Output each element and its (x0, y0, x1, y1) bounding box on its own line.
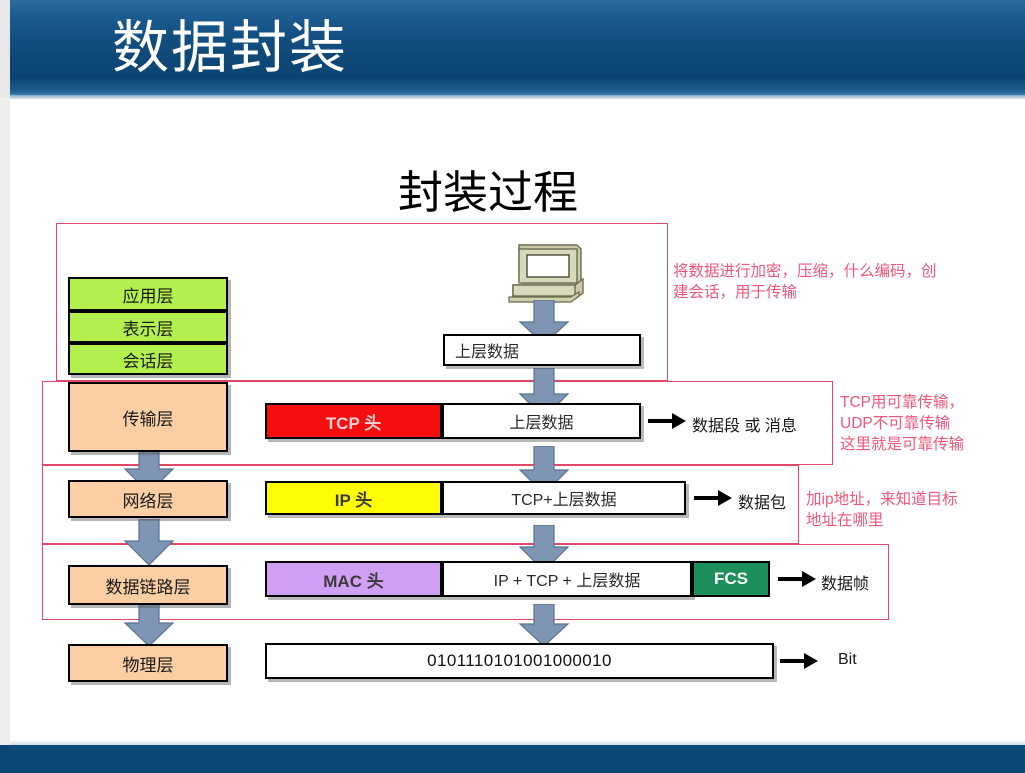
annotation-upper-layers: 将数据进行加密，压缩，什么编码，创 建会话，用于传输 (673, 261, 1018, 303)
pdu-label-bit-stream: 0101110101001000010 (427, 651, 612, 671)
layer-box-physical[interactable]: 物理层 (68, 644, 228, 682)
page-title: 数据封装 (112, 8, 348, 88)
pdu-label-transport-data: 上层数据 (509, 409, 573, 433)
output-arrow-segment (648, 412, 686, 435)
pdu-mac-header[interactable]: MAC 头 (265, 561, 442, 597)
layer-label-application: 应用层 (123, 282, 174, 307)
output-arrow-frame (778, 570, 816, 593)
layer-box-network[interactable]: 网络层 (68, 480, 228, 518)
layer-label-presentation: 表示层 (123, 315, 174, 340)
annotation-network: 加ip地址，来知道目标 地址在哪里 (806, 489, 1021, 531)
pdu-label-mac-header: MAC 头 (323, 567, 383, 592)
layer-label-transport: 传输层 (123, 405, 174, 430)
left-gutter (0, 97, 10, 745)
pdu-ip-header[interactable]: IP 头 (265, 481, 442, 515)
header-left-edge (0, 0, 10, 97)
layer-box-transport[interactable]: 传输层 (68, 382, 228, 452)
layer-box-datalink[interactable]: 数据链路层 (68, 565, 228, 605)
output-arrow-bit (780, 652, 818, 675)
pdu-label-tcp-header: TCP 头 (326, 409, 381, 434)
pdu-bit-stream[interactable]: 0101110101001000010 (265, 643, 774, 679)
pdu-label-datalink-data: IP + TCP + 上层数据 (494, 567, 641, 591)
pdu-label-fcs: FCS (714, 569, 748, 589)
layer-box-application[interactable]: 应用层 (68, 277, 228, 311)
layer-label-datalink: 数据链路层 (106, 573, 191, 598)
layer-label-network: 网络层 (123, 487, 174, 512)
pdu-network-data[interactable]: TCP+上层数据 (442, 481, 686, 515)
output-label-frame: 数据帧 (821, 570, 869, 594)
pdu-tcp-header[interactable]: TCP 头 (265, 403, 442, 439)
layer-box-presentation[interactable]: 表示层 (68, 311, 228, 343)
output-label-segment: 数据段 或 消息 (692, 412, 797, 436)
pdu-transport-data[interactable]: 上层数据 (442, 403, 641, 439)
pdu-label-network-data: TCP+上层数据 (511, 486, 616, 510)
slide-canvas: 数据封装 封装过程 (0, 0, 1025, 773)
layer-box-session[interactable]: 会话层 (68, 343, 228, 375)
pdu-label-upper-data: 上层数据 (455, 338, 519, 362)
footer-bar (0, 745, 1025, 773)
pdu-datalink-data[interactable]: IP + TCP + 上层数据 (442, 561, 692, 597)
output-arrow-packet (694, 489, 732, 512)
output-label-bit: Bit (838, 651, 857, 669)
pdu-fcs-trailer[interactable]: FCS (692, 561, 770, 597)
pdu-label-ip-header: IP 头 (335, 486, 372, 511)
layer-label-physical: 物理层 (123, 651, 174, 676)
output-label-packet: 数据包 (738, 489, 786, 513)
annotation-transport: TCP用可靠传输， UDP不可靠传输 这里就是可靠传输 (840, 392, 1025, 455)
diagram-title: 封装过程 (398, 156, 578, 221)
pdu-upper-data[interactable]: 上层数据 (443, 334, 641, 366)
layer-label-session: 会话层 (123, 347, 174, 372)
